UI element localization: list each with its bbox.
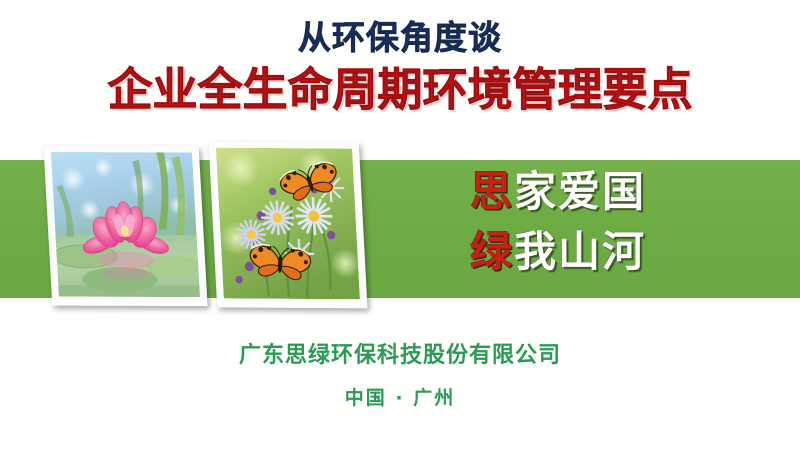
slogan-line-1-head: 思	[470, 167, 514, 216]
title-slide: 从环保角度谈 企业全生命周期环境管理要点	[0, 0, 800, 450]
slogan-line-1: 思家爱国	[470, 162, 790, 222]
lotus-photo-artwork	[51, 152, 200, 297]
title-main-heading: 企业全生命周期环境管理要点	[0, 64, 800, 116]
slogan-line-2-tail: 我山河	[514, 227, 646, 276]
slogan-line-1-tail: 家爱国	[514, 167, 646, 216]
butterfly-photo-artwork	[216, 148, 360, 300]
butterfly-photo-inner	[216, 148, 360, 300]
slogan-line-2: 绿我山河	[470, 222, 790, 282]
lotus-photo	[43, 146, 207, 306]
footer-block: 广东思绿环保科技股份有限公司 中国 · 广州	[0, 340, 800, 412]
page-title: 从环保角度谈 企业全生命周期环境管理要点	[0, 18, 800, 116]
slogan-block: 思家爱国 绿我山河	[470, 162, 790, 282]
company-name: 广东思绿环保科技股份有限公司	[0, 340, 800, 372]
lotus-photo-inner	[51, 152, 200, 297]
title-subheading: 从环保角度谈	[0, 18, 800, 58]
company-location: 中国 · 广州	[0, 384, 800, 412]
butterfly-photo	[209, 142, 368, 309]
slogan-line-2-head: 绿	[470, 227, 514, 276]
